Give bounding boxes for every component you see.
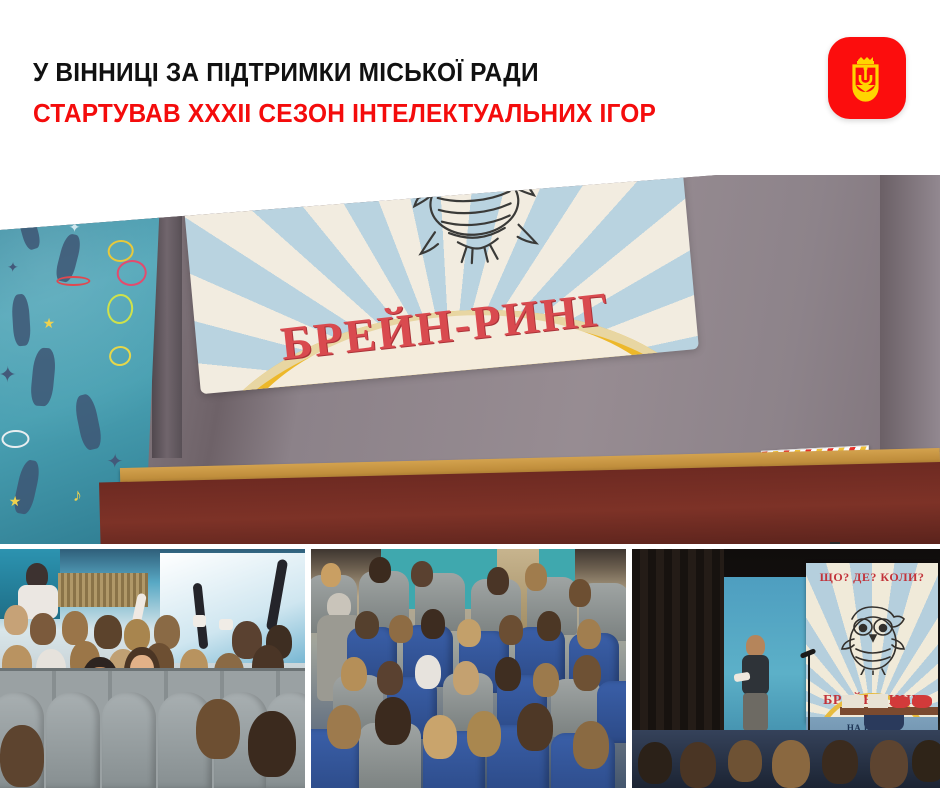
photo-stage-host-with-banner: ЩО? ДЕ? КОЛИ? xyxy=(632,549,940,788)
wall-dark-strip xyxy=(152,158,182,458)
main-photo-brain-ring: ✦ ✦ ★ ✦ ✦ ★ ♪ xyxy=(0,158,940,544)
page-title-line-2: СТАРТУВАВ XXXII СЕЗОН ІНТЕЛЕКТУАЛЬНИХ ІГ… xyxy=(33,99,656,129)
coat-of-arms-icon xyxy=(845,51,889,105)
table-leg xyxy=(830,542,840,544)
bottom-photo-row: ЩО? ДЕ? КОЛИ? xyxy=(0,549,940,788)
headline-block: У ВІННИЦІ ЗА ПІДТРИМКИ МІСЬКОЇ РАДИ СТАР… xyxy=(33,58,682,129)
photo-audience-raised-hands xyxy=(0,549,305,788)
poster-root: У ВІННИЦІ ЗА ПІДТРИМКИ МІСЬКОЇ РАДИ СТАР… xyxy=(0,0,940,788)
page-title-line-1: У ВІННИЦІ ЗА ПІДТРИМКИ МІСЬКОЇ РАДИ xyxy=(33,58,656,88)
photo-audience-blue-seats xyxy=(311,549,626,788)
vinnytsia-logo-badge xyxy=(828,37,906,119)
stage-banner-title: ЩО? ДЕ? КОЛИ? xyxy=(806,570,938,585)
stage-host xyxy=(742,635,770,731)
owl-cartoon-icon xyxy=(832,591,914,675)
header-bar: У ВІННИЦІ ЗА ПІДТРИМКИ МІСЬКОЇ РАДИ СТАР… xyxy=(0,0,940,175)
owl-illustration-icon xyxy=(380,158,570,283)
